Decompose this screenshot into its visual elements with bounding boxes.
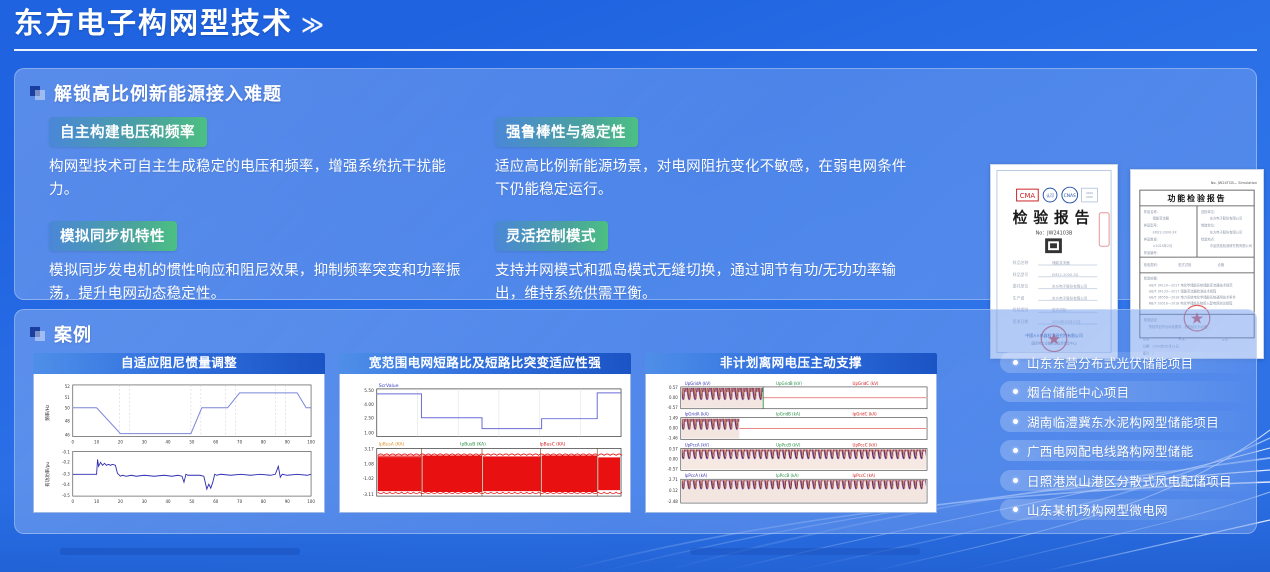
bullet-icon (1013, 478, 1018, 483)
svg-text:3.17: 3.17 (364, 446, 374, 452)
svg-text:GB/T 34133—2017 储能变流器检测技术规程: GB/T 34133—2017 储能变流器检测技术规程 (1149, 289, 1217, 294)
svg-text:10: 10 (94, 499, 100, 504)
svg-text:检验依据：: 检验依据： (1144, 276, 1160, 281)
svg-text:40: 40 (166, 439, 172, 444)
svg-text:-0.3: -0.3 (62, 471, 70, 476)
svg-text:储能变流器: 储能变流器 (1153, 216, 1170, 221)
svg-text:4.00: 4.00 (364, 402, 374, 408)
svg-text:样品编号：: 样品编号： (1144, 250, 1160, 255)
page-header: 东方电子构网型技术 ≫ (0, 0, 1270, 62)
svg-text:50: 50 (65, 406, 71, 411)
svg-text:NB/T 33016—2018 电化学储能系统接入配电网测试: NB/T 33016—2018 电化学储能系统接入配电网测试规程 (1149, 300, 1233, 305)
feature-pill: 强鲁棒性与稳定性 (495, 117, 638, 147)
feature-body: 适应高比例新能源场景，对电网阻抗变化不敏感，在弱电网条件下仍能稳定运行。 (495, 156, 915, 203)
svg-text:90: 90 (285, 439, 291, 444)
svg-text:1.08: 1.08 (364, 461, 374, 467)
svg-text:UpGridB (kV): UpGridB (kV) (776, 381, 802, 386)
svg-text:样品型号：: 样品型号： (1144, 223, 1160, 228)
feature-body: 支持并网模式和孤岛模式无缝切换，通过调节有功/无功功率输出，维持系统供需平衡。 (495, 260, 915, 307)
svg-text:50: 50 (189, 439, 195, 444)
bullet-icon (1013, 448, 1018, 453)
svg-text:样品型号: 样品型号 (1013, 272, 1029, 277)
svg-text:有功功率/pu: 有功功率/pu (44, 462, 51, 487)
feature-block: 模拟同步机特性 模拟同步发电机的惯性响应和阻尼效果，抑制频率突变和功率振荡，提升… (49, 221, 469, 307)
project-list: 山东东营分布式光伏储能项目 烟台储能中心项目 湖南临澧冀东水泥构网型储能项目 广… (1000, 352, 1258, 528)
svg-text:60: 60 (213, 499, 219, 504)
list-item[interactable]: 山东某机场构网型微电网 (1000, 499, 1258, 520)
svg-text:0.57: 0.57 (669, 446, 678, 451)
svg-text:样品名称: 样品名称 (1013, 260, 1029, 265)
svg-text:认可: 认可 (1046, 193, 1054, 198)
svg-text:50: 50 (189, 499, 195, 504)
svg-text:80: 80 (261, 499, 267, 504)
case-panel-title: 自适应阻尼惯量调整 (33, 353, 325, 374)
svg-text:-0.2: -0.2 (62, 459, 70, 464)
svg-text:0.00: 0.00 (669, 456, 678, 461)
svg-text:100: 100 (307, 499, 315, 504)
svg-text:5.50: 5.50 (364, 388, 374, 394)
svg-text:送检单位：: 送检单位： (1201, 209, 1217, 214)
feature-block: 灵活控制模式 支持并网模式和孤岛模式无缝切换，通过调节有功/无功功率输出，维持系… (495, 221, 915, 307)
svg-text:样品数量：: 样品数量： (1144, 236, 1160, 241)
svg-text:48: 48 (65, 419, 71, 424)
svg-text:储能变流器: 储能变流器 (1052, 260, 1070, 265)
project-label: 山东某机场构网型微电网 (1027, 500, 1168, 519)
svg-text:-2.48: -2.48 (668, 499, 679, 504)
svg-text:频率/Hz: 频率/Hz (44, 404, 51, 421)
header-divider (14, 49, 1257, 51)
svg-text:30: 30 (142, 499, 148, 504)
svg-text:-0.4: -0.4 (62, 482, 70, 487)
svg-text:型式试验: 型式试验 (1178, 262, 1192, 267)
svg-text:90: 90 (285, 499, 291, 504)
svg-text:CMA: CMA (1020, 192, 1036, 200)
svg-text:0.00: 0.00 (669, 395, 678, 400)
technology-card: 解锁高比例新能源接入难题 自主构建电压和频率 构网型技术可自主生成稳定的电压和频… (14, 68, 1257, 300)
bullet-icon (1013, 419, 1018, 424)
project-label: 湖南临澧冀东水泥构网型储能项目 (1027, 412, 1219, 431)
list-item[interactable]: 烟台储能中心项目 (1000, 381, 1258, 402)
svg-text:1.00: 1.00 (364, 431, 374, 437)
svg-text:30: 30 (142, 439, 148, 444)
svg-text:IpGridB (kA): IpGridB (kA) (776, 412, 801, 417)
svg-text:70: 70 (237, 499, 243, 504)
svg-text:东方电子股份有限公司: 东方电子股份有限公司 (1052, 295, 1088, 300)
svg-text:东方电子股份有限公司: 东方电子股份有限公司 (1210, 216, 1243, 221)
bullet-icon (1013, 507, 1018, 512)
svg-text:46: 46 (65, 433, 71, 438)
feature-grid: 自主构建电压和频率 构网型技术可自主生成稳定的电压和频率，增强系统抗干扰能力。 … (49, 117, 979, 325)
bullet-icon (1013, 389, 1018, 394)
case-section-heading: 案例 (15, 310, 1256, 347)
svg-text:EM22-2000-3X: EM22-2000-3X (1052, 273, 1079, 277)
feature-body: 构网型技术可自主生成稳定的电压和频率，增强系统抗干扰能力。 (49, 156, 469, 203)
svg-text:IpPccC (kA): IpPccC (kA) (853, 473, 876, 478)
feature-pill: 模拟同步机特性 (49, 221, 177, 251)
svg-text:检验地点：: 检验地点： (1201, 236, 1217, 241)
svg-text:70: 70 (237, 439, 243, 444)
svg-text:UpPccC (kV): UpPccC (kV) (853, 442, 878, 447)
svg-text:IpPccA (kA): IpPccA (kA) (685, 473, 708, 478)
svg-text:L0000: L0000 (1086, 196, 1093, 199)
case-card: 案例 自适应阻尼惯量调整 (14, 309, 1257, 534)
svg-text:-0.57: -0.57 (668, 466, 679, 471)
svg-text:东方电子股份有限公司: 东方电子股份有限公司 (1210, 229, 1243, 234)
case-panel-group: 自适应阻尼惯量调整 52 (33, 353, 937, 513)
svg-text:-1.46: -1.46 (668, 436, 679, 441)
case-heading-label: 案例 (54, 321, 92, 347)
svg-text:60: 60 (213, 439, 219, 444)
svg-text:合格: 合格 (1218, 262, 1225, 267)
svg-text:52: 52 (65, 384, 71, 389)
svg-text:UpGridA (kV): UpGridA (kV) (685, 381, 711, 386)
svg-text:20: 20 (118, 439, 124, 444)
svg-text:-0.57: -0.57 (668, 405, 679, 410)
case-panel[interactable]: 非计划离网电压主动支撑 (645, 353, 937, 513)
chart-adaptive-damping: 525150 4846 01020 304050 607080 90100 频率… (33, 374, 325, 513)
svg-text:功能检验报告: 功能检验报告 (1167, 193, 1226, 203)
svg-text:UpGridC (kV): UpGridC (kV) (853, 381, 879, 386)
list-item[interactable]: 湖南临澧冀东水泥构网型储能项目 (1000, 411, 1258, 432)
svg-text:80: 80 (261, 439, 267, 444)
chart-offgrid-voltage-support: UpGridA (kV) UpGridB (kV) UpGridC (kV) 0… (645, 374, 937, 513)
svg-text:40: 40 (166, 499, 172, 504)
list-item[interactable]: 日照港岚山港区分散式风电配储项目 (1000, 470, 1258, 491)
feature-block: 强鲁棒性与稳定性 适应高比例新能源场景，对电网阻抗变化不敏感，在弱电网条件下仍能… (495, 117, 915, 203)
svg-text:0.00: 0.00 (669, 426, 678, 431)
svg-text:GB/T 34120—2017 电化学储能系统储能变流器技术: GB/T 34120—2017 电化学储能系统储能变流器技术规范 (1149, 283, 1234, 288)
svg-text:IpGridA (kA): IpGridA (kA) (685, 412, 710, 417)
svg-text:样品名称：: 样品名称： (1144, 209, 1160, 214)
square-marker-icon (30, 327, 45, 341)
list-item[interactable]: 广西电网配电线路构网型储能 (1000, 440, 1258, 461)
svg-text:东方电子股份有限公司: 东方电子股份有限公司 (1052, 284, 1088, 289)
square-marker-icon (30, 86, 45, 100)
feature-column-right: 强鲁棒性与稳定性 适应高比例新能源场景，对电网阻抗变化不敏感，在弱电网条件下仍能… (495, 117, 915, 325)
svg-text:UpPccB (kV): UpPccB (kV) (776, 442, 801, 447)
chart-scr-adaptability: ScrValue 5.504.00 2.501.00 IpBusA (KA) I… (339, 374, 631, 513)
svg-text:EM22-2000-3X: EM22-2000-3X (1153, 230, 1178, 234)
svg-text:20: 20 (118, 499, 124, 504)
svg-text:检验类别：: 检验类别： (1144, 262, 1160, 267)
svg-text:委托单位: 委托单位 (1013, 284, 1029, 289)
svg-text:IpBusB (KA): IpBusB (KA) (460, 441, 486, 447)
svg-text:No：JW24103B: No：JW24103B (1036, 230, 1073, 236)
svg-text:IpBusC (KA): IpBusC (KA) (540, 441, 566, 447)
svg-text:制造单位：: 制造单位： (1201, 223, 1217, 228)
svg-text:GB/T 36558—2018 电力系统电化学储能系统通用技: GB/T 36558—2018 电力系统电化学储能系统通用技术条件 (1149, 294, 1237, 299)
svg-text:IpBusA (KA): IpBusA (KA) (379, 441, 405, 447)
chevron-right-icon: ≫ (301, 12, 321, 41)
svg-text:检验报告: 检验报告 (1013, 209, 1096, 227)
feature-pill: 灵活控制模式 (495, 221, 608, 251)
case-panel-title: 非计划离网电压主动支撑 (645, 353, 937, 374)
svg-text:IpGridC (kA): IpGridC (kA) (853, 412, 878, 417)
svg-text:10: 10 (94, 439, 100, 444)
feature-column-left: 自主构建电压和频率 构网型技术可自主生成稳定的电压和频率，增强系统抗干扰能力。 … (49, 117, 469, 325)
feature-pill: 自主构建电压和频率 (49, 117, 207, 147)
svg-text:UpPccA (kV): UpPccA (kV) (685, 442, 710, 447)
svg-text:CNAS: CNAS (1064, 193, 1076, 199)
project-label: 烟台储能中心项目 (1027, 382, 1129, 401)
technology-section-heading: 解锁高比例新能源接入难题 (15, 69, 1256, 106)
svg-text:-1.02: -1.02 (363, 476, 374, 482)
svg-text:-0.1: -0.1 (62, 449, 70, 454)
svg-text:1.49: 1.49 (669, 416, 678, 421)
svg-text:100: 100 (307, 439, 315, 444)
feature-block: 自主构建电压和频率 构网型技术可自主生成稳定的电压和频率，增强系统抗干扰能力。 (49, 117, 469, 203)
svg-text:No. JW24TCB— Simulation: No. JW24TCB— Simulation (1211, 181, 1257, 185)
svg-text:IpPccB (kA): IpPccB (kA) (776, 473, 799, 478)
svg-text:生产者: 生产者 (1013, 295, 1025, 300)
project-label: 山东东营分布式光伏储能项目 (1027, 353, 1193, 372)
project-label: 广西电网配电线路构网型储能 (1027, 441, 1193, 460)
svg-text:CNAS: CNAS (1086, 191, 1093, 195)
page-title: 东方电子构网型技术 (14, 8, 293, 41)
svg-text:0.12: 0.12 (669, 488, 678, 493)
list-item[interactable]: 山东东营分布式光伏储能项目 (1000, 352, 1258, 373)
svg-text:×2024年2月: ×2024年2月 (1153, 243, 1173, 248)
case-panel[interactable]: 自适应阻尼惯量调整 52 (33, 353, 325, 513)
case-panel-title: 宽范围电网短路比及短路比突变适应性强 (339, 353, 631, 374)
svg-text:-0.5: -0.5 (62, 493, 70, 498)
bullet-icon (1013, 360, 1018, 365)
case-panel[interactable]: 宽范围电网短路比及短路比突变适应性强 ScrValue (339, 353, 631, 513)
svg-text:ScrValue: ScrValue (379, 383, 399, 389)
feature-body: 模拟同步发电机的惯性响应和阻尼效果，抑制频率突变和功率振荡，提升电网动态稳定性。 (49, 260, 469, 307)
svg-text:51: 51 (65, 395, 71, 400)
svg-text:中品质检验测研究院有限公司: 中品质检验测研究院有限公司 (1210, 243, 1252, 248)
svg-text:2.50: 2.50 (364, 416, 374, 422)
title-row: 东方电子构网型技术 ≫ (0, 0, 1270, 41)
svg-text:2.71: 2.71 (669, 477, 678, 482)
svg-text:-3.11: -3.11 (363, 492, 374, 498)
technology-heading-label: 解锁高比例新能源接入难题 (54, 80, 282, 106)
project-label: 日照港岚山港区分散式风电配储项目 (1027, 471, 1232, 490)
svg-text:0.57: 0.57 (669, 385, 678, 390)
